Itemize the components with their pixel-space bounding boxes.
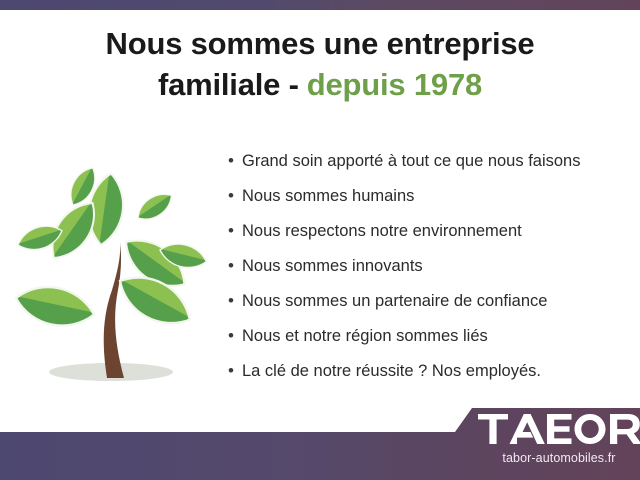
bullet-marker-icon: • [228, 327, 242, 344]
headline-line-2-black: familiale - [158, 67, 299, 102]
bullet-marker-icon: • [228, 222, 242, 239]
tree-illustration [8, 150, 220, 392]
list-item-label: La clé de notre réussite ? Nos employés. [242, 363, 541, 380]
list-item: • La clé de notre réussite ? Nos employé… [228, 362, 628, 397]
headline-line-2: familiale -depuis 1978 [0, 65, 640, 106]
leaf [8, 269, 106, 343]
list-item: • Nous sommes un partenaire de confiance [228, 292, 628, 327]
tree-trunk [104, 242, 124, 378]
bullet-marker-icon: • [228, 292, 242, 309]
page-title: Nous sommes une entreprise familiale -de… [0, 24, 640, 106]
list-item-label: Nous sommes un partenaire de confiance [242, 293, 547, 310]
list-item: • Nous respectons notre environnement [228, 222, 628, 257]
list-item: • Nous et notre région sommes liés [228, 327, 628, 362]
bullet-marker-icon: • [228, 257, 242, 274]
bullet-marker-icon: • [228, 362, 242, 379]
headline-line-1: Nous sommes une entreprise [0, 24, 640, 65]
promo-slide: Nous sommes une entreprise familiale -de… [0, 0, 640, 480]
headline-line-2-accent: depuis 1978 [307, 67, 482, 102]
list-item-label: Nous respectons notre environnement [242, 223, 522, 240]
list-item: • Nous sommes humains [228, 187, 628, 222]
leaf [128, 182, 182, 231]
list-item-label: Nous sommes innovants [242, 258, 423, 275]
list-item-label: Nous sommes humains [242, 188, 414, 205]
top-accent-bar [0, 0, 640, 10]
benefits-list: • Grand soin apporté à tout ce que nous … [228, 152, 628, 397]
list-item-label: Grand soin apporté à tout ce que nous fa… [242, 153, 580, 170]
bullet-marker-icon: • [228, 152, 242, 169]
footer-band [0, 398, 640, 480]
list-item-label: Nous et notre région sommes liés [242, 328, 488, 345]
list-item: • Grand soin apporté à tout ce que nous … [228, 152, 628, 187]
bullet-marker-icon: • [228, 187, 242, 204]
list-item: • Nous sommes innovants [228, 257, 628, 292]
